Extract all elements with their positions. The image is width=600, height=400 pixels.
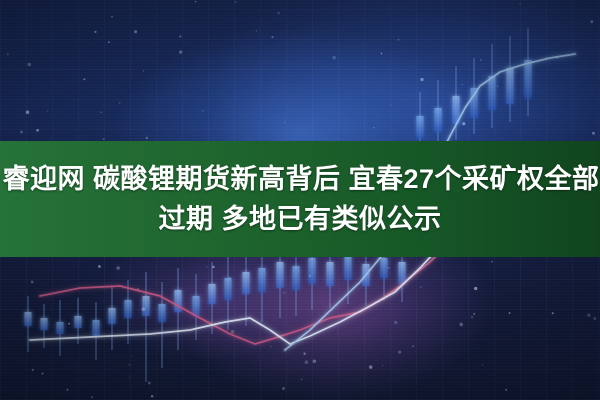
headline-text-block: 睿迎网 碳酸锂期货新高背后 宜春27个采矿权全部 过期 多地已有类似公示 xyxy=(0,141,600,257)
headline-line-2: 过期 多地已有类似公示 xyxy=(158,200,441,238)
news-banner: 睿迎网 碳酸锂期货新高背后 宜春27个采矿权全部 过期 多地已有类似公示 xyxy=(0,0,600,400)
headline-line-1: 睿迎网 碳酸锂期货新高背后 宜春27个采矿权全部 xyxy=(0,160,599,198)
